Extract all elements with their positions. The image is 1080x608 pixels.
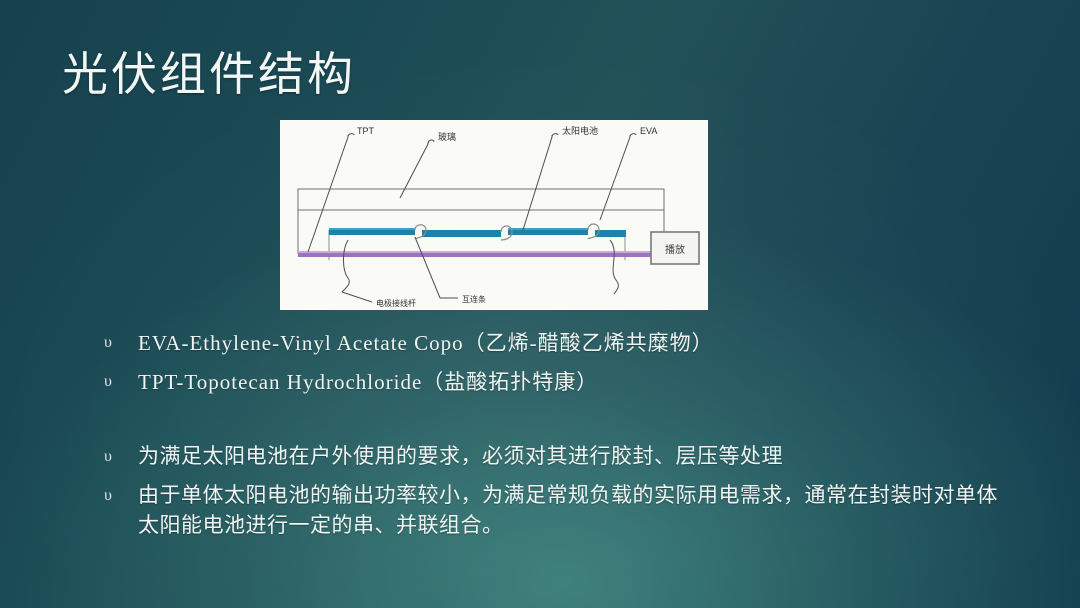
page-title: 光伏组件结构	[62, 38, 356, 104]
bullet-text-encapsulation: 为满足太阳电池在户外使用的要求，必须对其进行胶封、层压等处理	[138, 441, 783, 471]
label-busbar: 电极接线杆	[376, 298, 416, 308]
bullet-text-tpt: TPT-Topotecan Hydrochloride（盐酸拓扑特康）	[138, 367, 598, 397]
play-button-label: 播放	[665, 243, 685, 256]
pv-cross-section-diagram: TPT 玻璃 太阳电池 EVA 电极接线杆 互连条 播放	[280, 120, 708, 310]
bullet-group-definitions: υ EVA-Ethylene-Vinyl Acetate Copo（乙烯-醋酸乙…	[104, 328, 1004, 397]
play-button: 播放	[651, 232, 699, 264]
list-item: υ TPT-Topotecan Hydrochloride（盐酸拓扑特康）	[104, 367, 1004, 397]
tpt-backsheet	[298, 251, 664, 257]
bullet-text-eva: EVA-Ethylene-Vinyl Acetate Copo（乙烯-醋酸乙烯共…	[138, 328, 714, 358]
list-item: υ 为满足太阳电池在户外使用的要求，必须对其进行胶封、层压等处理	[104, 441, 1004, 473]
label-glass: 玻璃	[438, 131, 456, 142]
list-item: υ 由于单体太阳电池的输出功率较小，为满足常规负载的实际用电需求，通常在封装时对…	[104, 480, 1004, 540]
bullet-marker-icon: υ	[104, 367, 138, 397]
pv-structure-figure[interactable]: TPT 玻璃 太阳电池 EVA 电极接线杆 互连条 播放	[280, 120, 708, 310]
label-tpt: TPT	[357, 126, 375, 136]
bullet-marker-icon: υ	[104, 328, 138, 358]
bullet-list: υ EVA-Ethylene-Vinyl Acetate Copo（乙烯-醋酸乙…	[104, 328, 1004, 547]
label-interconnect: 互连条	[462, 294, 486, 304]
bullet-marker-icon: υ	[104, 480, 138, 512]
bullet-group-notes: υ 为满足太阳电池在户外使用的要求，必须对其进行胶封、层压等处理 υ 由于单体太…	[104, 441, 1004, 540]
bullet-marker-icon: υ	[104, 441, 138, 473]
bullet-text-series-parallel: 由于单体太阳电池的输出功率较小，为满足常规负载的实际用电需求，通常在封装时对单体…	[138, 480, 1004, 540]
label-eva: EVA	[640, 126, 657, 136]
list-item: υ EVA-Ethylene-Vinyl Acetate Copo（乙烯-醋酸乙…	[104, 328, 1004, 358]
slide-canvas: 光伏组件结构	[0, 0, 1080, 608]
label-solar-cell: 太阳电池	[562, 125, 598, 136]
